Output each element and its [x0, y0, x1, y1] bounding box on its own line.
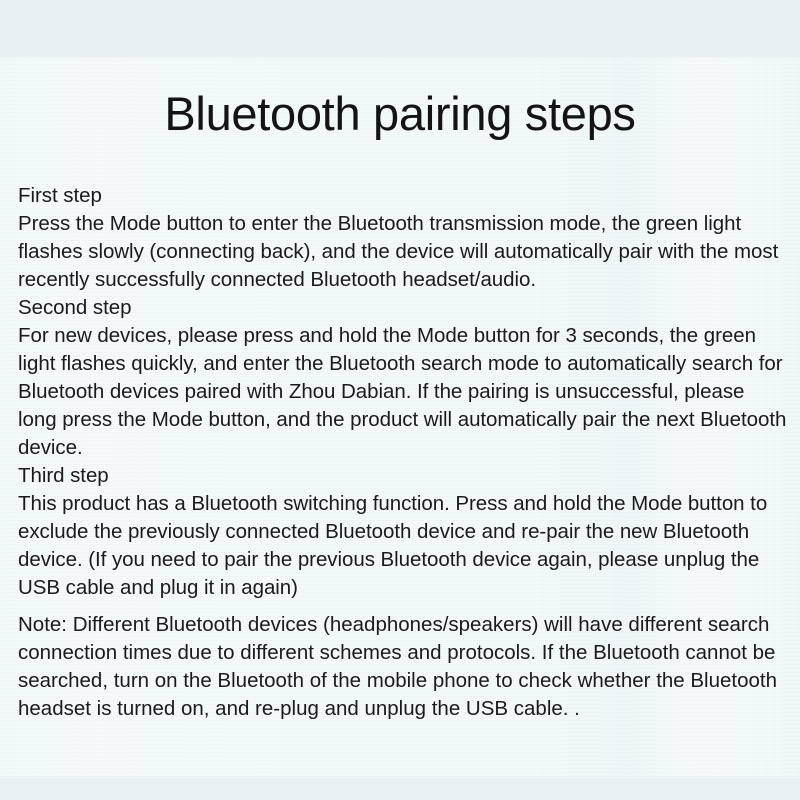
note-block: Note: Different Bluetooth devices (headp…: [18, 611, 790, 723]
step-block-first: First step Press the Mode button to ente…: [18, 182, 788, 294]
step-body-first: Press the Mode button to enter the Bluet…: [18, 210, 788, 294]
step-block-third: Third step This product has a Bluetooth …: [18, 462, 788, 602]
step-heading-third: Third step: [18, 462, 788, 490]
note-text: Note: Different Bluetooth devices (headp…: [18, 611, 790, 723]
page-title: Bluetooth pairing steps: [0, 86, 800, 142]
instruction-card: Bluetooth pairing steps First step Press…: [0, 0, 800, 800]
content-area: Bluetooth pairing steps First step Press…: [0, 0, 800, 800]
step-block-second: Second step For new devices, please pres…: [18, 294, 788, 462]
step-heading-second: Second step: [18, 294, 788, 322]
step-body-second: For new devices, please press and hold t…: [18, 322, 788, 462]
step-body-third: This product has a Bluetooth switching f…: [18, 490, 788, 602]
step-heading-first: First step: [18, 182, 788, 210]
